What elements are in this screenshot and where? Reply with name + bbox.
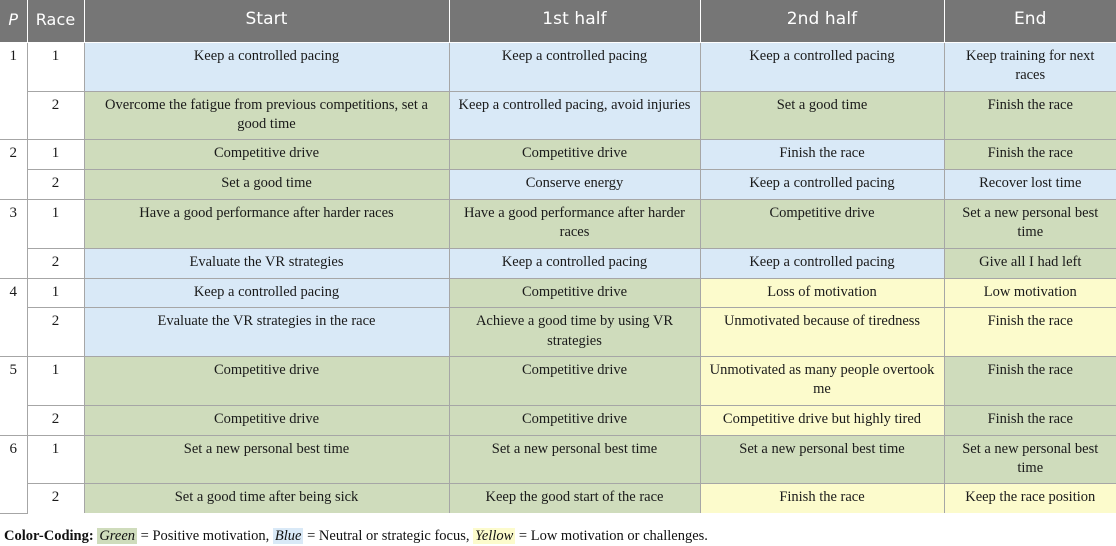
- column-header-start: Start: [84, 0, 449, 43]
- cell-second-half: Keep a controlled pacing: [700, 248, 944, 278]
- participant-motivation-table: P Race Start 1st half 2nd half End 11Kee…: [0, 0, 1116, 514]
- table-row: 31Have a good performance after harder r…: [0, 200, 1116, 249]
- cell-second-half: Keep a controlled pacing: [700, 170, 944, 200]
- legend-swatch-blue: Blue: [273, 528, 304, 544]
- cell-end: Finish the race: [944, 308, 1116, 357]
- cell-start: Competitive drive: [84, 405, 449, 435]
- cell-second-half: Keep a controlled pacing: [700, 43, 944, 92]
- cell-second-half: Set a good time: [700, 91, 944, 140]
- cell-start: Set a new personal best time: [84, 435, 449, 484]
- cell-race-number: 2: [27, 484, 84, 513]
- cell-end: Finish the race: [944, 91, 1116, 140]
- column-header-participant: P: [0, 0, 27, 43]
- cell-race-number: 2: [27, 405, 84, 435]
- cell-participant-id: 2: [0, 140, 27, 200]
- table-row: 2Set a good timeConserve energyKeep a co…: [0, 170, 1116, 200]
- cell-start: Set a good time: [84, 170, 449, 200]
- cell-race-number: 2: [27, 170, 84, 200]
- cell-race-number: 2: [27, 308, 84, 357]
- cell-race-number: 1: [27, 140, 84, 170]
- cell-race-number: 1: [27, 200, 84, 249]
- cell-start: Competitive drive: [84, 140, 449, 170]
- cell-participant-id: 1: [0, 43, 27, 140]
- legend-items: Green = Positive motivation, Blue = Neut…: [97, 528, 708, 544]
- cell-end: Finish the race: [944, 140, 1116, 170]
- motivation-table-figure: P Race Start 1st half 2nd half End 11Kee…: [0, 0, 1116, 546]
- legend-separator: =: [137, 528, 152, 544]
- legend-separator: =: [515, 528, 530, 544]
- cell-end: Keep the race position: [944, 484, 1116, 513]
- cell-first-half: Competitive drive: [449, 405, 700, 435]
- cell-start: Overcome the fatigue from previous compe…: [84, 91, 449, 140]
- table-row: 51Competitive driveCompetitive driveUnmo…: [0, 357, 1116, 406]
- table-row: 2Evaluate the VR strategiesKeep a contro…: [0, 248, 1116, 278]
- cell-participant-id: 5: [0, 357, 27, 436]
- cell-end: Finish the race: [944, 405, 1116, 435]
- cell-participant-id: 6: [0, 435, 27, 513]
- cell-participant-id: 4: [0, 278, 27, 357]
- table-row: 2Overcome the fatigue from previous comp…: [0, 91, 1116, 140]
- cell-end: Recover lost time: [944, 170, 1116, 200]
- table-row: 2Evaluate the VR strategies in the raceA…: [0, 308, 1116, 357]
- cell-end: Low motivation: [944, 278, 1116, 308]
- cell-first-half: Set a new personal best time: [449, 435, 700, 484]
- cell-first-half: Keep the good start of the race: [449, 484, 700, 513]
- table-row: 11Keep a controlled pacingKeep a control…: [0, 43, 1116, 92]
- cell-end: Finish the race: [944, 357, 1116, 406]
- table-header: P Race Start 1st half 2nd half End: [0, 0, 1116, 43]
- column-header-race: Race: [27, 0, 84, 43]
- legend-title: Color-Coding:: [4, 528, 94, 544]
- cell-race-number: 1: [27, 43, 84, 92]
- table-row: 61Set a new personal best timeSet a new …: [0, 435, 1116, 484]
- legend-description-yellow: Low motivation or challenges.: [531, 528, 708, 544]
- cell-race-number: 1: [27, 435, 84, 484]
- cell-end: Set a new personal best time: [944, 200, 1116, 249]
- table-row: 41Keep a controlled pacingCompetitive dr…: [0, 278, 1116, 308]
- legend-color-coding: Color-Coding: Green = Positive motivatio…: [0, 514, 1116, 546]
- legend-swatch-green: Green: [97, 528, 137, 544]
- cell-first-half: Achieve a good time by using VR strategi…: [449, 308, 700, 357]
- table-row: 2Set a good time after being sickKeep th…: [0, 484, 1116, 513]
- cell-start: Have a good performance after harder rac…: [84, 200, 449, 249]
- cell-first-half: Keep a controlled pacing, avoid injuries: [449, 91, 700, 140]
- cell-end: Set a new personal best time: [944, 435, 1116, 484]
- cell-race-number: 1: [27, 357, 84, 406]
- cell-second-half: Finish the race: [700, 484, 944, 513]
- cell-first-half: Have a good performance after harder rac…: [449, 200, 700, 249]
- table-row: 2Competitive driveCompetitive driveCompe…: [0, 405, 1116, 435]
- cell-second-half: Finish the race: [700, 140, 944, 170]
- cell-second-half: Competitive drive but highly tired: [700, 405, 944, 435]
- table-row: 21Competitive driveCompetitive driveFini…: [0, 140, 1116, 170]
- cell-race-number: 2: [27, 248, 84, 278]
- cell-first-half: Competitive drive: [449, 357, 700, 406]
- cell-second-half: Competitive drive: [700, 200, 944, 249]
- legend-separator: =: [303, 528, 318, 544]
- cell-end: Keep training for next races: [944, 43, 1116, 92]
- legend-description-blue: Neutral or strategic focus,: [319, 528, 470, 544]
- cell-start: Keep a controlled pacing: [84, 278, 449, 308]
- cell-start: Keep a controlled pacing: [84, 43, 449, 92]
- column-header-end: End: [944, 0, 1116, 43]
- column-header-second-half: 2nd half: [700, 0, 944, 43]
- cell-race-number: 1: [27, 278, 84, 308]
- cell-first-half: Conserve energy: [449, 170, 700, 200]
- cell-race-number: 2: [27, 91, 84, 140]
- cell-first-half: Keep a controlled pacing: [449, 248, 700, 278]
- cell-second-half: Unmotivated because of tiredness: [700, 308, 944, 357]
- cell-second-half: Loss of motivation: [700, 278, 944, 308]
- cell-first-half: Keep a controlled pacing: [449, 43, 700, 92]
- cell-end: Give all I had left: [944, 248, 1116, 278]
- table-body: 11Keep a controlled pacingKeep a control…: [0, 43, 1116, 514]
- cell-first-half: Competitive drive: [449, 278, 700, 308]
- legend-description-green: Positive motivation,: [152, 528, 269, 544]
- legend-swatch-yellow: Yellow: [473, 528, 515, 544]
- cell-participant-id: 3: [0, 200, 27, 279]
- column-header-first-half: 1st half: [449, 0, 700, 43]
- cell-second-half: Set a new personal best time: [700, 435, 944, 484]
- cell-start: Competitive drive: [84, 357, 449, 406]
- cell-start: Set a good time after being sick: [84, 484, 449, 513]
- cell-start: Evaluate the VR strategies in the race: [84, 308, 449, 357]
- cell-first-half: Competitive drive: [449, 140, 700, 170]
- cell-second-half: Unmotivated as many people overtook me: [700, 357, 944, 406]
- cell-start: Evaluate the VR strategies: [84, 248, 449, 278]
- table-header-row: P Race Start 1st half 2nd half End: [0, 0, 1116, 43]
